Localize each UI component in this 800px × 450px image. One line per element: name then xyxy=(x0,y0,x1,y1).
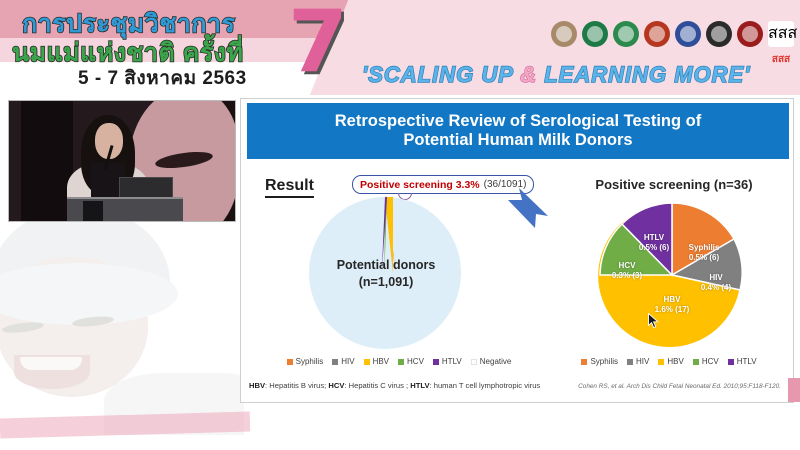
callout-highlight: Positive screening 3.3% xyxy=(360,179,480,191)
legend-label-hcv-right: HCV xyxy=(702,357,719,366)
legend-swatch-hbv-right xyxy=(658,359,664,365)
legend-item-hcv: HCV xyxy=(398,357,424,366)
legend-item-syphilis-right: Syphilis xyxy=(581,357,618,366)
legend-swatch-hiv-right xyxy=(627,359,633,365)
child-photo-watermark xyxy=(0,205,244,435)
podium-panel xyxy=(83,201,103,222)
legend-label-syphilis-right: Syphilis xyxy=(590,357,618,366)
legend-item-negative: Negative xyxy=(471,357,512,366)
legend-swatch-syphilis xyxy=(287,359,293,365)
legend-label-hbv-right: HBV xyxy=(667,357,683,366)
sponsor-logo-2-icon xyxy=(582,21,608,47)
legend-item-hcv-right: HCV xyxy=(693,357,719,366)
tagline-part1: 'SCALING UP xyxy=(362,62,520,87)
presentation-screen: การประชุมวิชาการ นมแม่แห่งชาติ ครั้งที่ … xyxy=(0,0,800,450)
sponsor-logo-7-icon xyxy=(737,21,763,47)
slide-title-bar: Retrospective Review of Serological Test… xyxy=(247,103,789,159)
positive-screening-heading: Positive screening (n=36) xyxy=(563,177,785,192)
legend-right: Syphilis HIV HBV HCV HTLV xyxy=(549,357,789,366)
abbreviation-footnote: HBV: Hepatitis B virus; HCV: Hepatitis C… xyxy=(249,381,579,391)
source-citation: Cohen RS, et al. Arch Dis Child Fetal Ne… xyxy=(576,383,781,390)
conference-date: 5 - 7 สิงหาคม 2563 xyxy=(78,63,247,93)
footnote-text-htlv: : human T cell lymphotropic virus xyxy=(430,381,541,390)
tagline-part2: LEARNING MORE' xyxy=(537,62,750,87)
sponsor-logo-6-icon xyxy=(706,21,732,47)
legend-swatch-hbv xyxy=(364,359,370,365)
footnote-abbr-hcv: HCV xyxy=(328,381,344,390)
sponsor-logo-4-icon xyxy=(644,21,670,47)
legend-label-hiv: HIV xyxy=(341,357,354,366)
sponsor-logo-5-icon xyxy=(675,21,701,47)
legend-item-hbv: HBV xyxy=(364,357,389,366)
footnote-text-hbv: : Hepatitis B virus; xyxy=(265,381,328,390)
legend-item-htlv-right: HTLV xyxy=(728,357,757,366)
legend-swatch-htlv xyxy=(433,359,439,365)
slide-title-line2: Potential Human Milk Donors xyxy=(403,131,632,150)
potential-donors-label: Potential donors (n=1,091) xyxy=(291,257,481,291)
footnote-text-hcv: : Hepatitis C virus ; xyxy=(344,381,410,390)
legend-label-hbv: HBV xyxy=(373,357,389,366)
legend-item-syphilis: Syphilis xyxy=(287,357,324,366)
legend-label-syphilis: Syphilis xyxy=(296,357,324,366)
legend-item-hiv: HIV xyxy=(332,357,354,366)
result-heading: Result xyxy=(265,177,314,198)
footnote-abbr-htlv: HTLV xyxy=(410,381,429,390)
legend-swatch-hcv xyxy=(398,359,404,365)
legend-item-hiv-right: HIV xyxy=(627,357,649,366)
legend-swatch-negative xyxy=(471,359,477,365)
positive-screening-pie-chart: Syphilis 0.5% (6) HIV 0.4% (4) HBV 1.6% … xyxy=(596,199,748,351)
legend-label-htlv-right: HTLV xyxy=(737,357,757,366)
legend-swatch-htlv-right xyxy=(728,359,734,365)
legend-left: Syphilis HIV HBV HCV HTLV Negative xyxy=(269,357,529,366)
sponsor-logo-row: สสส xyxy=(551,21,794,47)
speaker-video-feed[interactable] xyxy=(8,100,236,222)
legend-item-hbv-right: HBV xyxy=(658,357,683,366)
mouse-cursor xyxy=(648,313,659,329)
conference-tagline: 'SCALING UP & LEARNING MORE' xyxy=(362,62,750,88)
legend-label-hcv: HCV xyxy=(407,357,424,366)
blue-arrow-icon xyxy=(505,185,551,231)
watermark-hat-brim xyxy=(0,263,178,325)
potential-donors-label-line1: Potential donors xyxy=(291,257,481,274)
legend-label-hiv-right: HIV xyxy=(636,357,649,366)
video-background-panel xyxy=(21,101,73,222)
legend-swatch-syphilis-right xyxy=(581,359,587,365)
sponsor-logo-3-icon xyxy=(613,21,639,47)
sponsor-logo-1-icon xyxy=(551,21,577,47)
sss-logo: สสส xyxy=(768,21,794,47)
slide-edge-pink-accent xyxy=(788,378,800,402)
legend-label-negative: Negative xyxy=(480,357,512,366)
watermark-teeth xyxy=(20,357,82,370)
slide-content: Retrospective Review of Serological Test… xyxy=(240,98,794,403)
potential-donors-label-line2: (n=1,091) xyxy=(291,274,481,291)
conference-edition-number: 7 xyxy=(288,0,348,92)
legend-swatch-hcv-right xyxy=(693,359,699,365)
legend-label-htlv: HTLV xyxy=(442,357,462,366)
slide-title-line1: Retrospective Review of Serological Test… xyxy=(335,112,701,131)
legend-item-htlv: HTLV xyxy=(433,357,462,366)
conference-header-banner: การประชุมวิชาการ นมแม่แห่งชาติ ครั้งที่ … xyxy=(0,0,800,95)
legend-swatch-hiv xyxy=(332,359,338,365)
tagline-ampersand: & xyxy=(520,62,537,87)
footnote-abbr-hbv: HBV xyxy=(249,381,265,390)
